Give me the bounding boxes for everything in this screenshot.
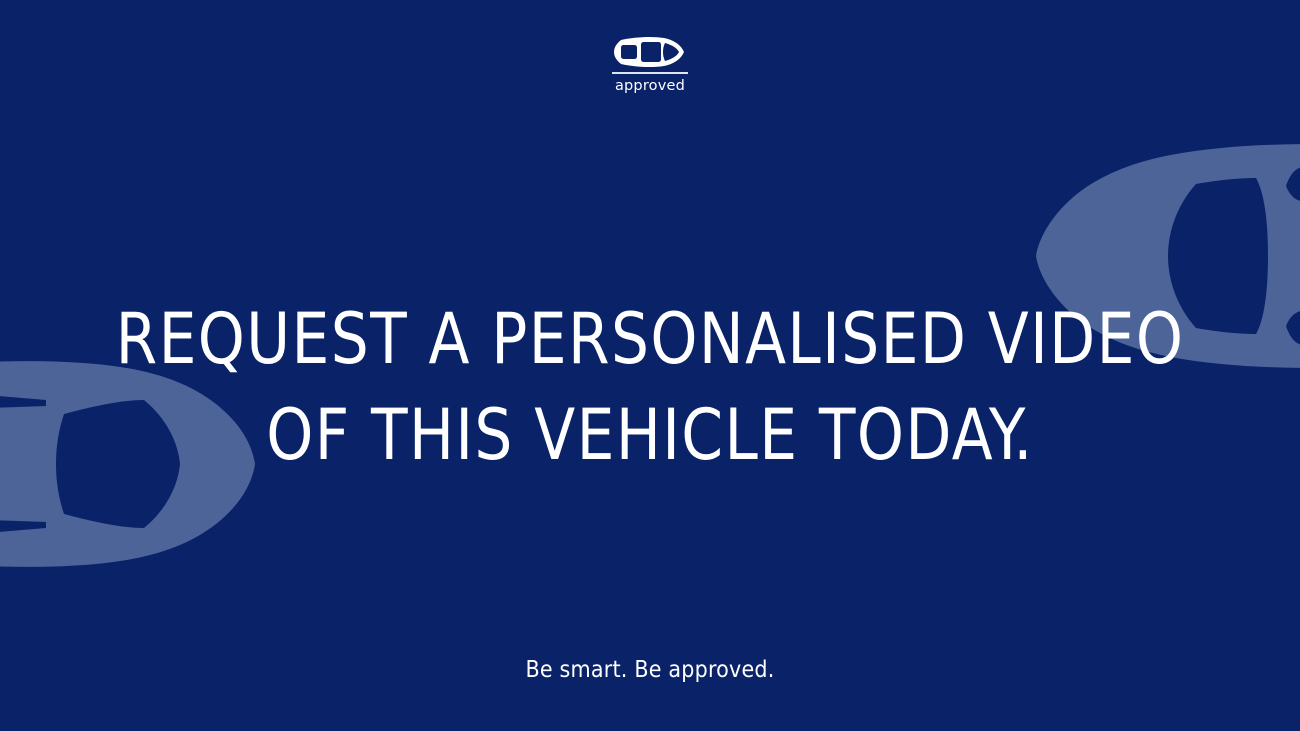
brand-wordmark: approved xyxy=(615,79,685,94)
brand-logo: approved xyxy=(0,36,1300,94)
headline-line-1: REQUEST A PERSONALISED VIDEO xyxy=(33,291,1268,387)
slide-canvas: approved REQUEST A PERSONALISED VIDEO OF… xyxy=(0,0,1300,731)
page-title: REQUEST A PERSONALISED VIDEO OF THIS VEH… xyxy=(0,291,1300,483)
tagline: Be smart. Be approved. xyxy=(0,655,1300,685)
car-top-view-icon xyxy=(612,36,688,68)
logo-divider-rule xyxy=(612,72,688,74)
headline-line-2: OF THIS VEHICLE TODAY. xyxy=(33,387,1268,483)
